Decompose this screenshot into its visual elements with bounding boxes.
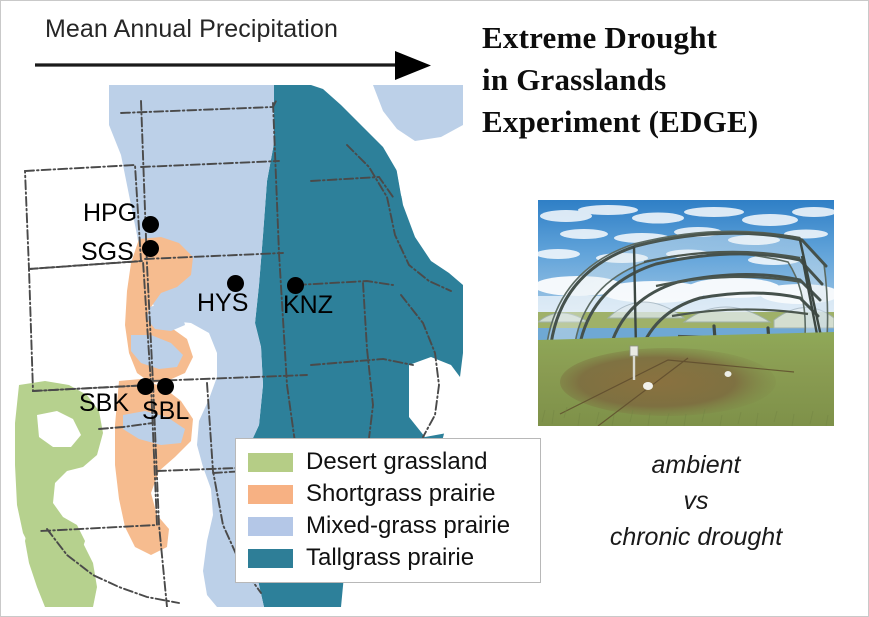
legend-label-desert-grassland: Desert grassland	[306, 450, 487, 474]
legend-swatch-mixed-grass-prairie	[248, 517, 293, 536]
site-label-sbl: SBL	[142, 399, 189, 424]
site-marker-hpg[interactable]	[142, 216, 159, 233]
treatment-line-2: vs	[561, 483, 831, 519]
legend-swatch-tallgrass-prairie	[248, 549, 293, 568]
precipitation-gradient-label: Mean Annual Precipitation	[45, 15, 338, 44]
legend-item-tallgrass-prairie: Tallgrass prairie	[248, 542, 530, 574]
site-label-sbk: SBK	[79, 391, 129, 416]
site-marker-sgs[interactable]	[142, 240, 159, 257]
legend-label-shortgrass-prairie: Shortgrass prairie	[306, 482, 495, 506]
title-line-2: in Grasslands	[482, 59, 862, 101]
treatment-line-1: ambient	[561, 447, 831, 483]
site-label-knz: KNZ	[283, 293, 333, 318]
site-label-hpg: HPG	[83, 201, 137, 226]
treatment-caption: ambient vs chronic drought	[561, 447, 831, 555]
map-legend: Desert grassland Shortgrass prairie Mixe…	[235, 438, 541, 583]
right-arrow-icon	[33, 49, 433, 81]
site-marker-sbl[interactable]	[157, 378, 174, 395]
site-marker-sbk[interactable]	[137, 378, 154, 395]
legend-item-mixed-grass-prairie: Mixed-grass prairie	[248, 510, 530, 542]
page-title: Extreme Drought in Grasslands Experiment…	[482, 17, 862, 143]
legend-item-shortgrass-prairie: Shortgrass prairie	[248, 478, 530, 510]
title-line-3: Experiment (EDGE)	[482, 101, 862, 143]
title-line-1: Extreme Drought	[482, 17, 862, 59]
legend-item-desert-grassland: Desert grassland	[248, 446, 530, 478]
legend-label-mixed-grass-prairie: Mixed-grass prairie	[306, 514, 510, 538]
rainout-shelter-graphic	[538, 200, 834, 426]
site-label-sgs: SGS	[81, 240, 134, 265]
rainout-shelter-photo	[538, 200, 834, 426]
site-label-hys: HYS	[197, 291, 248, 316]
graphical-abstract: Mean Annual Precipitation Extreme Drough…	[0, 0, 869, 617]
legend-label-tallgrass-prairie: Tallgrass prairie	[306, 546, 474, 570]
legend-swatch-desert-grassland	[248, 453, 293, 472]
legend-swatch-shortgrass-prairie	[248, 485, 293, 504]
treatment-line-3: chronic drought	[561, 519, 831, 555]
